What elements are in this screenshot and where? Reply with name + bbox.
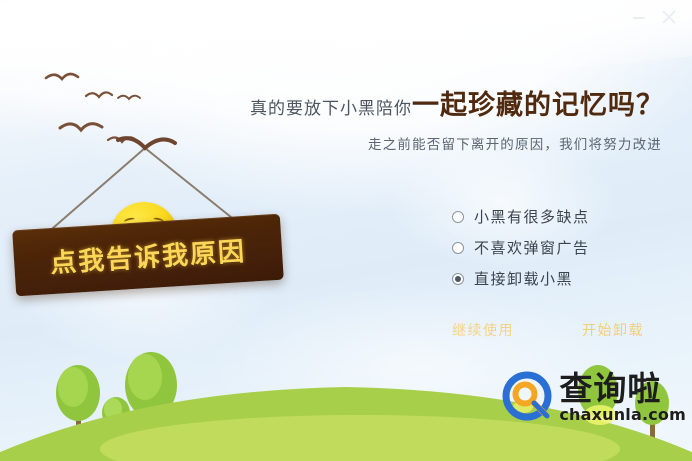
start-uninstall-button[interactable]: 开始卸载 xyxy=(582,320,644,340)
minimize-button[interactable] xyxy=(624,5,654,29)
radio-icon-2[interactable] xyxy=(452,273,464,285)
watermark-texts: 查询啦 chaxunla.com xyxy=(559,372,686,423)
dialog-actions: 继续使用 开始卸载 xyxy=(250,320,690,340)
watermark: 查询啦 chaxunla.com xyxy=(501,369,686,425)
reason-option-2[interactable]: 直接卸载小黑 xyxy=(452,263,690,294)
reason-option-0[interactable]: 小黑有很多缺点 xyxy=(452,201,690,232)
minimize-icon xyxy=(631,9,647,25)
reason-option-label-2: 直接卸载小黑 xyxy=(474,268,573,289)
reason-option-label-0: 小黑有很多缺点 xyxy=(474,206,590,227)
continue-using-button[interactable]: 继续使用 xyxy=(452,320,514,340)
reason-options-group: 小黑有很多缺点 不喜欢弹窗广告 直接卸载小黑 xyxy=(250,201,690,294)
close-icon xyxy=(660,8,678,26)
sign-label: 点我告诉我原因 xyxy=(49,230,247,279)
dialog-content-panel: 真的要放下小黑陪你一起珍藏的记忆吗？ 走之前能否留下离开的原因，我们将努力改进 … xyxy=(250,92,690,392)
watermark-cn: 查询啦 xyxy=(559,372,686,405)
reason-option-label-1: 不喜欢弹窗广告 xyxy=(474,237,590,258)
radio-icon-1[interactable] xyxy=(452,242,464,254)
headline: 真的要放下小黑陪你一起珍藏的记忆吗？ xyxy=(250,92,690,119)
window-titlebar xyxy=(0,0,692,34)
reason-option-1[interactable]: 不喜欢弹窗广告 xyxy=(452,232,690,263)
chaxunla-logo-icon xyxy=(501,369,557,425)
headline-subtitle: 走之前能否留下离开的原因，我们将努力改进 xyxy=(250,133,690,153)
uninstall-dialog: 点我告诉我原因 xyxy=(0,0,692,461)
close-button[interactable] xyxy=(654,5,684,29)
headline-plain: 真的要放下小黑陪你 xyxy=(250,99,412,119)
radio-icon-0[interactable] xyxy=(452,211,464,223)
headline-accent: 一起珍藏的记忆吗？ xyxy=(412,90,664,121)
watermark-en: chaxunla.com xyxy=(559,407,686,423)
